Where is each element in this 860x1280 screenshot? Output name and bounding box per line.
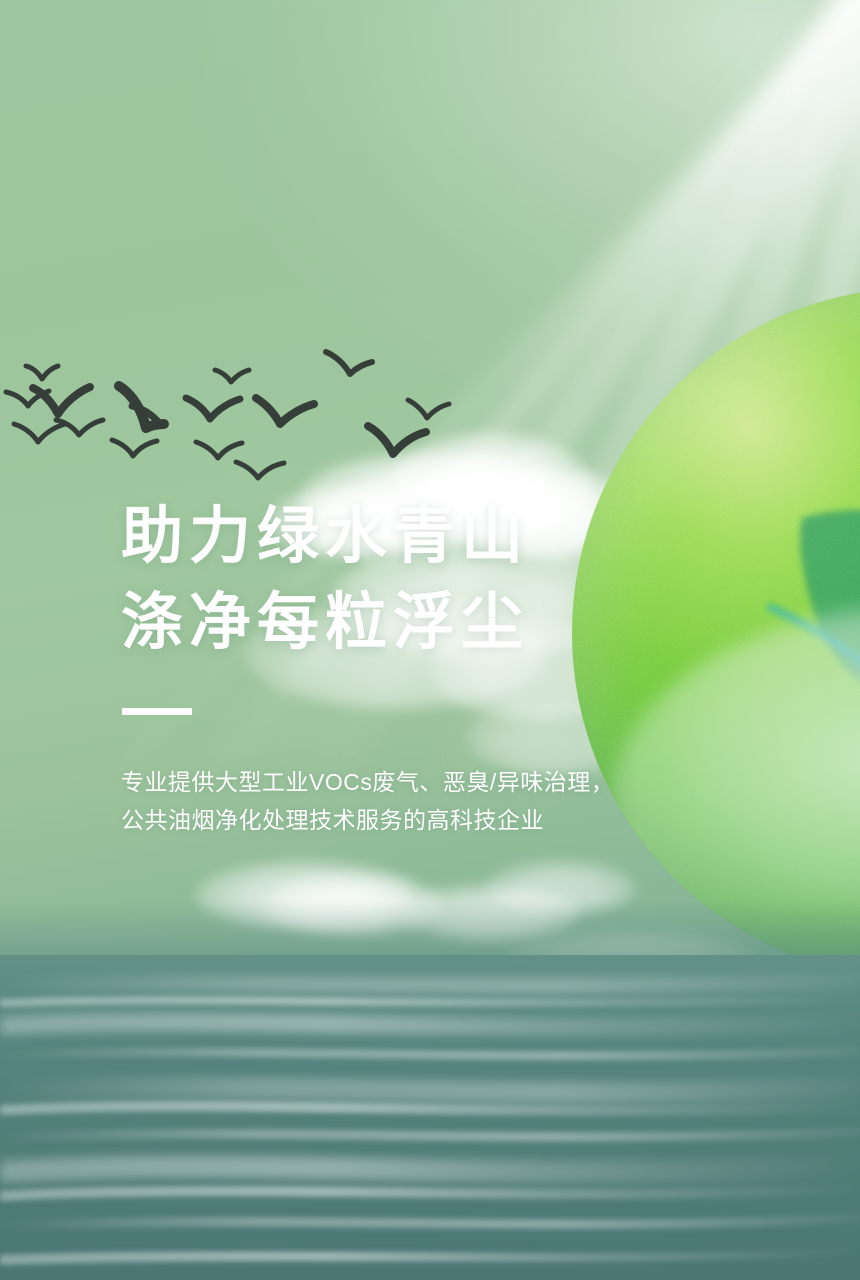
headline-divider: [122, 708, 192, 715]
eco-hero-poster: 助力绿水青山 涤净每粒浮尘 专业提供大型工业VOCs废气、恶臭/异味治理， 公共…: [0, 0, 860, 1280]
subtitle-line-2: 公共油烟净化处理技术服务的高科技企业: [121, 801, 681, 839]
water-ripples: [0, 955, 860, 1280]
hero-copy: 助力绿水青山 涤净每粒浮尘 专业提供大型工业VOCs废气、恶臭/异味治理， 公共…: [121, 494, 681, 839]
subtitle-line-1: 专业提供大型工业VOCs废气、恶臭/异味治理，: [121, 763, 681, 801]
headline-line-1: 助力绿水青山: [121, 494, 681, 580]
water-surface: [0, 955, 860, 1280]
headline-line-2: 涤净每粒浮尘: [121, 580, 681, 666]
